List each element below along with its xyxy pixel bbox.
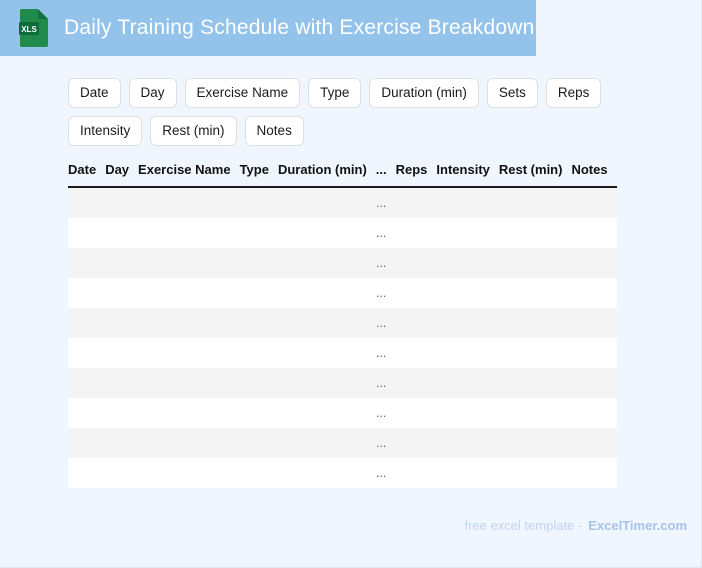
table-cell[interactable] xyxy=(436,218,498,248)
table-cell[interactable] xyxy=(396,428,437,458)
table-cell[interactable] xyxy=(436,187,498,218)
table-cell[interactable] xyxy=(571,338,616,368)
table-cell-ellipsis[interactable]: ... xyxy=(376,308,396,338)
table-header-intensity[interactable]: Intensity xyxy=(436,162,498,187)
table-cell-ellipsis[interactable]: ... xyxy=(376,218,396,248)
table-cell[interactable] xyxy=(240,338,278,368)
table-row[interactable]: ... xyxy=(68,187,617,218)
table-header: Date Day Exercise Name Type Duration (mi… xyxy=(68,162,617,187)
table-cell[interactable] xyxy=(105,398,138,428)
table-cell[interactable] xyxy=(240,187,278,218)
table-cell[interactable] xyxy=(240,308,278,338)
table-cell[interactable] xyxy=(240,458,278,488)
footer-brand-link[interactable]: ExcelTimer.com xyxy=(588,518,687,533)
table-cell[interactable] xyxy=(68,338,105,368)
xls-file-icon: XLS xyxy=(18,9,48,47)
column-tag-reps[interactable]: Reps xyxy=(546,78,602,108)
table-cell[interactable] xyxy=(68,398,105,428)
table-cell[interactable] xyxy=(436,428,498,458)
table-cell[interactable] xyxy=(105,308,138,338)
footer-free-text: free excel template - xyxy=(464,518,582,533)
table-cell[interactable] xyxy=(499,368,572,398)
table-cell[interactable] xyxy=(499,338,572,368)
table-cell[interactable] xyxy=(571,458,616,488)
table-cell[interactable] xyxy=(138,278,240,308)
table-header-reps[interactable]: Reps xyxy=(396,162,437,187)
table-cell-ellipsis[interactable]: ... xyxy=(376,338,396,368)
table-cell[interactable] xyxy=(105,338,138,368)
table-cell[interactable] xyxy=(105,428,138,458)
table-cell[interactable] xyxy=(571,187,616,218)
table-cell[interactable] xyxy=(278,278,376,308)
table-cell[interactable] xyxy=(138,248,240,278)
table-header-day[interactable]: Day xyxy=(105,162,138,187)
table-cell[interactable] xyxy=(571,398,616,428)
table-cell[interactable] xyxy=(436,308,498,338)
table-cell[interactable] xyxy=(105,248,138,278)
table-header-notes[interactable]: Notes xyxy=(571,162,616,187)
table-cell[interactable] xyxy=(278,248,376,278)
column-tag-date[interactable]: Date xyxy=(68,78,121,108)
table-cell[interactable] xyxy=(396,398,437,428)
table-cell[interactable] xyxy=(278,368,376,398)
table-cell[interactable] xyxy=(138,338,240,368)
table-cell[interactable] xyxy=(68,458,105,488)
table-cell[interactable] xyxy=(240,368,278,398)
table-cell[interactable] xyxy=(68,187,105,218)
table-cell[interactable] xyxy=(138,187,240,218)
table-cell[interactable] xyxy=(396,187,437,218)
column-tag-day[interactable]: Day xyxy=(129,78,177,108)
table-cell[interactable] xyxy=(571,368,616,398)
table-cell[interactable] xyxy=(105,187,138,218)
table-cell[interactable] xyxy=(396,458,437,488)
table-cell[interactable] xyxy=(436,248,498,278)
table-row[interactable]: ... xyxy=(68,338,617,368)
table-header-date[interactable]: Date xyxy=(68,162,105,187)
table-cell[interactable] xyxy=(240,398,278,428)
table-cell[interactable] xyxy=(571,428,616,458)
table-cell[interactable] xyxy=(278,187,376,218)
table-cell[interactable] xyxy=(396,338,437,368)
table-cell[interactable] xyxy=(278,338,376,368)
table-body: .............................. xyxy=(68,187,617,488)
table-cell-ellipsis[interactable]: ... xyxy=(376,398,396,428)
table-cell[interactable] xyxy=(68,218,105,248)
table-cell[interactable] xyxy=(240,218,278,248)
table-header-rest[interactable]: Rest (min) xyxy=(499,162,572,187)
table-row[interactable]: ... xyxy=(68,398,617,428)
table-cell[interactable] xyxy=(68,368,105,398)
table-viewport: Date Day Exercise Name Type Duration (mi… xyxy=(68,162,688,492)
table-cell[interactable] xyxy=(571,278,616,308)
svg-text:XLS: XLS xyxy=(21,25,37,34)
table-cell-ellipsis[interactable]: ... xyxy=(376,458,396,488)
table-cell[interactable] xyxy=(240,428,278,458)
table-cell-ellipsis[interactable]: ... xyxy=(376,428,396,458)
table-cell[interactable] xyxy=(105,458,138,488)
table-cell[interactable] xyxy=(138,398,240,428)
table-cell-ellipsis[interactable]: ... xyxy=(376,368,396,398)
table-cell[interactable] xyxy=(499,218,572,248)
table-cell[interactable] xyxy=(138,428,240,458)
table-cell[interactable] xyxy=(571,248,616,278)
table-cell[interactable] xyxy=(278,308,376,338)
table-cell[interactable] xyxy=(436,398,498,428)
column-tag-notes[interactable]: Notes xyxy=(245,116,304,146)
table-cell[interactable] xyxy=(571,218,616,248)
table-cell[interactable] xyxy=(138,458,240,488)
table-cell[interactable] xyxy=(499,428,572,458)
page-title: Daily Training Schedule with Exercise Br… xyxy=(64,16,534,40)
column-tag-list: Date Day Exercise Name Type Duration (mi… xyxy=(68,78,668,146)
table-row[interactable]: ... xyxy=(68,458,617,488)
table-cell[interactable] xyxy=(436,338,498,368)
column-tag-exercise-name[interactable]: Exercise Name xyxy=(185,78,301,108)
table-cell[interactable] xyxy=(396,278,437,308)
header-banner: XLS Daily Training Schedule with Exercis… xyxy=(0,0,536,56)
table-header-exercise-name[interactable]: Exercise Name xyxy=(138,162,240,187)
column-tag-sets[interactable]: Sets xyxy=(487,78,538,108)
footer-credit: free excel template -ExcelTimer.com xyxy=(464,518,687,533)
table-cell-ellipsis[interactable]: ... xyxy=(376,278,396,308)
table-header-type[interactable]: Type xyxy=(240,162,278,187)
table-cell[interactable] xyxy=(240,248,278,278)
table-cell[interactable] xyxy=(138,308,240,338)
table-header-duration[interactable]: Duration (min) xyxy=(278,162,376,187)
table-cell[interactable] xyxy=(436,278,498,308)
table-cell-ellipsis[interactable]: ... xyxy=(376,248,396,278)
table-cell[interactable] xyxy=(499,458,572,488)
table-cell[interactable] xyxy=(278,428,376,458)
table-header-ellipsis[interactable]: ... xyxy=(376,162,396,187)
table-cell[interactable] xyxy=(138,368,240,398)
column-tag-duration[interactable]: Duration (min) xyxy=(369,78,479,108)
table-row[interactable]: ... xyxy=(68,218,617,248)
table-cell-ellipsis[interactable]: ... xyxy=(376,187,396,218)
table-cell[interactable] xyxy=(436,368,498,398)
table-cell[interactable] xyxy=(105,218,138,248)
table-cell[interactable] xyxy=(571,308,616,338)
table-cell[interactable] xyxy=(278,458,376,488)
table-cell[interactable] xyxy=(68,278,105,308)
table-cell[interactable] xyxy=(105,278,138,308)
column-tag-intensity[interactable]: Intensity xyxy=(68,116,142,146)
table-row[interactable]: ... xyxy=(68,308,617,338)
column-tag-rest[interactable]: Rest (min) xyxy=(150,116,236,146)
schedule-table: Date Day Exercise Name Type Duration (mi… xyxy=(68,162,617,488)
column-tag-type[interactable]: Type xyxy=(308,78,361,108)
table-cell[interactable] xyxy=(68,428,105,458)
table-cell[interactable] xyxy=(499,278,572,308)
table-header-row: Date Day Exercise Name Type Duration (mi… xyxy=(68,162,617,187)
table-row[interactable]: ... xyxy=(68,368,617,398)
table-row[interactable]: ... xyxy=(68,278,617,308)
table-cell[interactable] xyxy=(396,218,437,248)
table-cell[interactable] xyxy=(499,398,572,428)
table-cell[interactable] xyxy=(68,248,105,278)
table-cell[interactable] xyxy=(396,248,437,278)
table-cell[interactable] xyxy=(499,187,572,218)
table-cell[interactable] xyxy=(499,308,572,338)
table-row[interactable]: ... xyxy=(68,248,617,278)
table-cell[interactable] xyxy=(105,368,138,398)
table-cell[interactable] xyxy=(436,458,498,488)
table-cell[interactable] xyxy=(138,218,240,248)
table-cell[interactable] xyxy=(240,278,278,308)
table-cell[interactable] xyxy=(499,248,572,278)
table-row[interactable]: ... xyxy=(68,428,617,458)
table-cell[interactable] xyxy=(278,398,376,428)
table-cell[interactable] xyxy=(68,308,105,338)
table-cell[interactable] xyxy=(396,308,437,338)
table-cell[interactable] xyxy=(396,368,437,398)
table-cell[interactable] xyxy=(278,218,376,248)
